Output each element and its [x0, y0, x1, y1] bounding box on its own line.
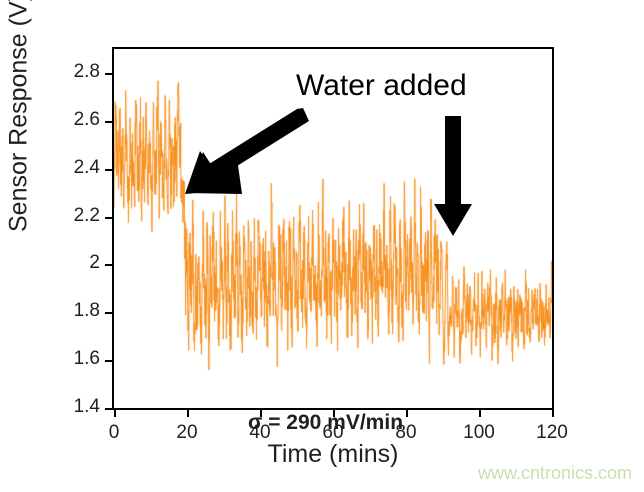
x-tick-label: 60	[303, 422, 363, 444]
x-tick-mark	[406, 408, 408, 417]
y-tick-mark	[105, 121, 114, 123]
y-tick-label: 2.2	[50, 205, 100, 227]
x-tick-label: 120	[522, 422, 582, 444]
y-tick-mark	[105, 169, 114, 171]
x-tick-mark	[552, 408, 554, 417]
chart-figure: Sensor Response (V) σ = 290 mV/min Water…	[0, 0, 644, 492]
x-tick-label: 80	[376, 422, 436, 444]
y-tick-label: 2.8	[50, 61, 100, 83]
y-axis-title: Sensor Response (V)	[5, 0, 34, 278]
y-tick-mark	[105, 360, 114, 362]
y-tick-label: 1.8	[50, 300, 100, 322]
x-tick-mark	[479, 408, 481, 417]
y-tick-mark	[105, 264, 114, 266]
y-tick-label: 2.6	[50, 109, 100, 131]
y-tick-mark	[105, 73, 114, 75]
x-tick-mark	[114, 408, 116, 417]
y-tick-label: 1.4	[50, 396, 100, 418]
x-tick-mark	[260, 408, 262, 417]
y-tick-label: 2	[50, 252, 100, 274]
y-tick-mark	[105, 312, 114, 314]
x-tick-mark	[333, 408, 335, 417]
water-added-annotation: Water added	[296, 69, 467, 103]
x-tick-label: 20	[157, 422, 217, 444]
x-tick-label: 40	[230, 422, 290, 444]
y-tick-mark	[105, 217, 114, 219]
x-tick-label: 100	[449, 422, 509, 444]
x-tick-mark	[187, 408, 189, 417]
watermark: www.cntronics.com	[478, 463, 632, 484]
x-tick-label: 0	[84, 422, 144, 444]
y-tick-label: 2.4	[50, 157, 100, 179]
y-tick-label: 1.6	[50, 348, 100, 370]
y-tick-mark	[105, 408, 114, 410]
